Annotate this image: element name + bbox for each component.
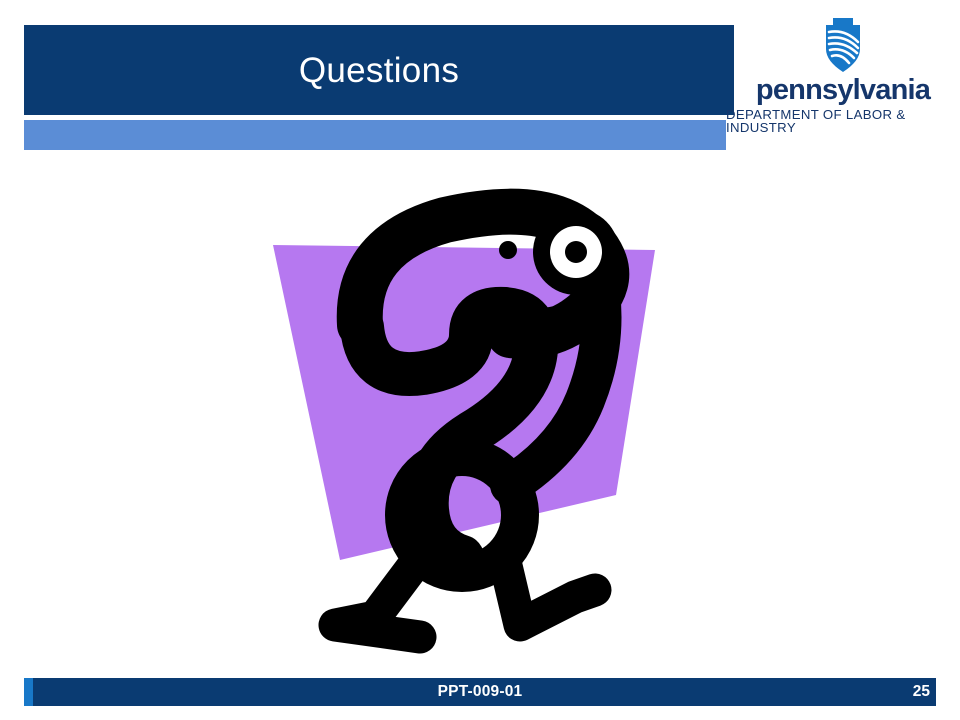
walking-question-mark-character bbox=[255, 185, 685, 655]
footer-document-code: PPT-009-01 bbox=[24, 678, 936, 706]
page-title: Questions bbox=[299, 53, 459, 88]
nostril-dot bbox=[499, 241, 517, 259]
logo-tagline: DEPARTMENT OF LABOR & INDUSTRY bbox=[726, 108, 960, 134]
eye-pupil bbox=[565, 241, 587, 263]
logo-wordmark: pennsylvania bbox=[756, 76, 930, 105]
header-accent-band bbox=[24, 120, 726, 150]
pennsylvania-logo: pennsylvania DEPARTMENT OF LABOR & INDUS… bbox=[726, 16, 960, 122]
slide: Questions pennsylvania DEPARTMENT OF LAB… bbox=[0, 0, 960, 720]
footer-page-number: 25 bbox=[913, 678, 930, 706]
pennsylvania-keystone-icon bbox=[803, 16, 883, 74]
title-band: Questions bbox=[24, 25, 734, 115]
